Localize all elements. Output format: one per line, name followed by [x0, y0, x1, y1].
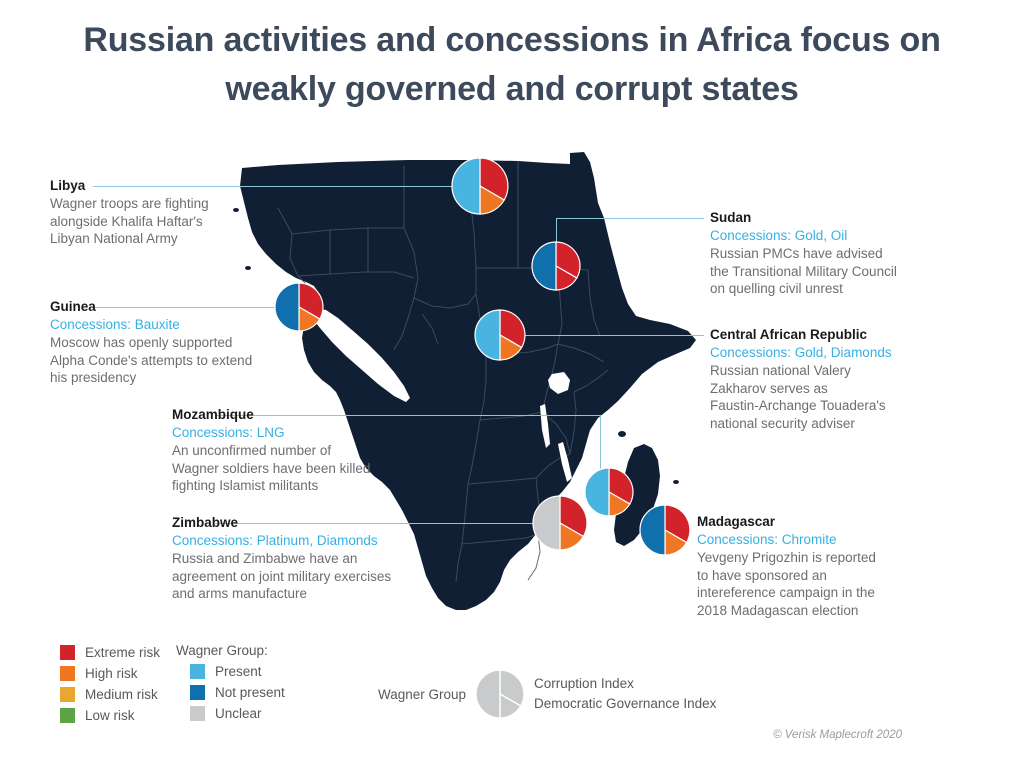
annotation-line: 2018 Madagascan election — [697, 602, 876, 620]
annotation-line: Russian national Valery — [710, 362, 892, 380]
annotation-line: Wagner soldiers have been killed — [172, 460, 370, 478]
annotation-body-libya: Wagner troops are fighting alongside Kha… — [50, 195, 209, 248]
annotation-body-car: Russian national Valery Zakharov serves … — [710, 362, 892, 432]
legend-label-extreme-risk: Extreme risk — [85, 645, 160, 660]
annotation-concessions-mozambique: Concessions: LNG — [172, 424, 370, 441]
annotation-line: Russian PMCs have advised — [710, 245, 897, 263]
annotation-body-sudan: Russian PMCs have advised the Transition… — [710, 245, 897, 298]
swatch-medium-risk — [60, 687, 75, 702]
annotation-country-car: Central African Republic — [710, 326, 892, 343]
annotation-line: on quelling civil unrest — [710, 280, 897, 298]
cape-verde-island — [245, 266, 251, 270]
annotation-zimbabwe[interactable]: Zimbabwe Concessions: Platinum, Diamonds… — [172, 514, 391, 603]
copyright-notice: © Verisk Maplecroft 2020 — [773, 729, 902, 741]
annotation-line: national security adviser — [710, 415, 892, 433]
canary-island — [233, 208, 239, 212]
key-pie-label-governance: Democratic Governance Index — [534, 694, 716, 714]
leader-line-sudan-h — [556, 218, 704, 219]
leader-line-car — [500, 335, 704, 336]
annotation-concessions-car: Concessions: Gold, Diamonds — [710, 344, 892, 361]
annotation-concessions-guinea: Concessions: Bauxite — [50, 316, 252, 333]
annotation-body-mozambique: An unconfirmed number of Wagner soldiers… — [172, 442, 370, 495]
annotation-line: to have sponsored an — [697, 567, 876, 585]
legend-item-low-risk: Low risk — [60, 706, 160, 725]
leader-line-sudan-v — [556, 218, 557, 260]
legend-item-wagner-not-present: Not present — [190, 683, 285, 702]
page-title: Russian activities and concessions in Af… — [0, 16, 1024, 114]
annotation-line: Moscow has openly supported — [50, 334, 252, 352]
legend-pie-key: Wagner Group Corruption Index Democratic… — [378, 668, 716, 720]
legend-label-wagner-unclear: Unclear — [215, 706, 262, 721]
key-pie-label-wagner: Wagner Group — [378, 687, 466, 702]
annotation-line: An unconfirmed number of — [172, 442, 370, 460]
legend-label-wagner-present: Present — [215, 664, 262, 679]
annotation-line: alongside Khalifa Haftar's — [50, 213, 209, 231]
swatch-high-risk — [60, 666, 75, 681]
madagascar-shape — [614, 444, 660, 546]
annotation-line: Libyan National Army — [50, 230, 209, 248]
annotation-mozambique[interactable]: Mozambique Concessions: LNG An unconfirm… — [172, 406, 370, 495]
annotation-line: and arms manufacture — [172, 585, 391, 603]
title-line-2: weakly governed and corrupt states — [0, 65, 1024, 114]
mauritius-island — [673, 480, 679, 484]
legend-label-high-risk: High risk — [85, 666, 138, 681]
annotation-country-zimbabwe: Zimbabwe — [172, 514, 391, 531]
legend-item-medium-risk: Medium risk — [60, 685, 160, 704]
annotation-country-libya: Libya — [50, 177, 209, 194]
swatch-wagner-present — [190, 664, 205, 679]
key-pie-right-labels: Corruption Index Democratic Governance I… — [534, 674, 716, 714]
annotation-country-sudan: Sudan — [710, 209, 897, 226]
annotation-concessions-sudan: Concessions: Gold, Oil — [710, 227, 897, 244]
swatch-low-risk — [60, 708, 75, 723]
annotation-line: Faustin-Archange Touadera's — [710, 397, 892, 415]
swatch-extreme-risk — [60, 645, 75, 660]
legend-item-extreme-risk: Extreme risk — [60, 643, 160, 662]
annotation-line: Yevgeny Prigozhin is reported — [697, 549, 876, 567]
annotation-line: his presidency — [50, 369, 252, 387]
annotation-central-african-republic[interactable]: Central African Republic Concessions: Go… — [710, 326, 892, 432]
legend-item-wagner-unclear: Unclear — [190, 704, 285, 723]
annotation-line: Russia and Zimbabwe have an — [172, 550, 391, 568]
comoros-island — [618, 431, 626, 437]
legend-wagner-title: Wagner Group: — [176, 643, 285, 658]
legend-item-high-risk: High risk — [60, 664, 160, 683]
legend-risk: Extreme risk High risk Medium risk Low r… — [60, 643, 160, 727]
annotation-line: intereference campaign in the — [697, 584, 876, 602]
annotation-body-guinea: Moscow has openly supported Alpha Conde'… — [50, 334, 252, 387]
annotation-guinea[interactable]: Guinea Concessions: Bauxite Moscow has o… — [50, 298, 252, 387]
annotation-country-guinea: Guinea — [50, 298, 252, 315]
legend-item-wagner-present: Present — [190, 662, 285, 681]
annotation-line: fighting Islamist militants — [172, 477, 370, 495]
title-line-1: Russian activities and concessions in Af… — [83, 21, 940, 59]
legend-wagner-group: Wagner Group: Present Not present Unclea… — [176, 643, 285, 725]
legend-label-wagner-not-present: Not present — [215, 685, 285, 700]
annotation-line: the Transitional Military Council — [710, 263, 897, 281]
infographic-canvas: Russian activities and concessions in Af… — [0, 0, 1024, 759]
annotation-concessions-zimbabwe: Concessions: Platinum, Diamonds — [172, 532, 391, 549]
annotation-line: Alpha Conde's attempts to extend — [50, 352, 252, 370]
annotation-body-madagascar: Yevgeny Prigozhin is reported to have sp… — [697, 549, 876, 619]
legend-label-medium-risk: Medium risk — [85, 687, 158, 702]
annotation-body-zimbabwe: Russia and Zimbabwe have an agreement on… — [172, 550, 391, 603]
leader-line-mozambique-v — [600, 415, 601, 483]
legend-label-low-risk: Low risk — [85, 708, 135, 723]
annotation-madagascar[interactable]: Madagascar Concessions: Chromite Yevgeny… — [697, 513, 876, 619]
annotation-line: Zakharov serves as — [710, 380, 892, 398]
annotation-line: Wagner troops are fighting — [50, 195, 209, 213]
key-pie-label-corruption: Corruption Index — [534, 674, 716, 694]
annotation-sudan[interactable]: Sudan Concessions: Gold, Oil Russian PMC… — [710, 209, 897, 298]
swatch-wagner-not-present — [190, 685, 205, 700]
annotation-concessions-madagascar: Concessions: Chromite — [697, 531, 876, 548]
swatch-wagner-unclear — [190, 706, 205, 721]
annotation-country-madagascar: Madagascar — [697, 513, 876, 530]
annotation-line: agreement on joint military exercises — [172, 568, 391, 586]
annotation-country-mozambique: Mozambique — [172, 406, 370, 423]
annotation-libya[interactable]: Libya Wagner troops are fighting alongsi… — [50, 177, 209, 248]
key-pie-diagram — [474, 668, 526, 720]
